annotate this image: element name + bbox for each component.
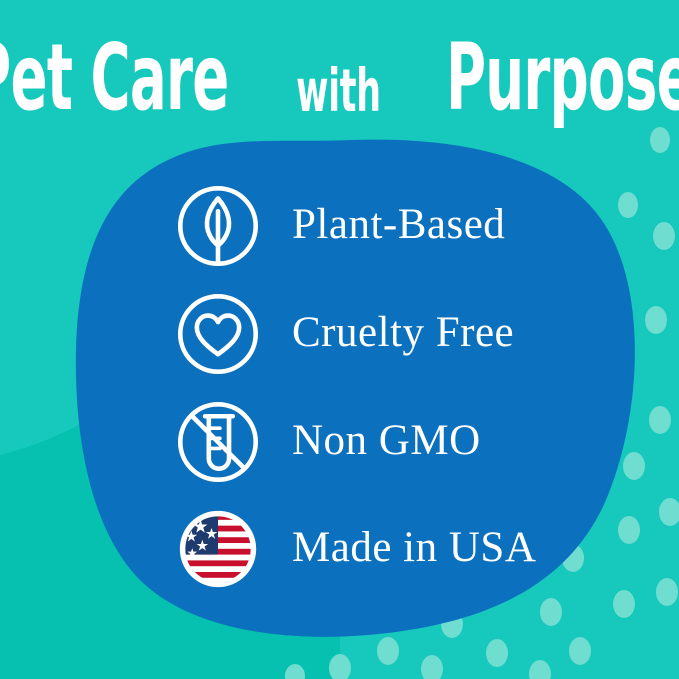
claims-list: Plant-Based Cruelty Free	[0, 0, 679, 679]
pet-care-with-purpose-graphic: Pet Care with Purpose ® Plant-Based Crue…	[0, 0, 679, 679]
claim-item-plant-based: Plant-Based	[172, 180, 505, 272]
claim-item-non-gmo: Non GMO	[172, 396, 481, 488]
usa-flag-icon	[172, 503, 264, 595]
claim-label: Plant-Based	[292, 203, 505, 250]
heart-icon	[172, 288, 264, 380]
no-test-tube-icon	[172, 396, 264, 488]
claim-item-cruelty-free: Cruelty Free	[172, 288, 514, 380]
claim-label: Cruelty Free	[292, 311, 514, 358]
leaf-icon	[172, 180, 264, 272]
claim-item-made-in-usa: Made in USA	[172, 503, 536, 595]
claim-label: Made in USA	[292, 526, 536, 573]
claim-label: Non GMO	[292, 419, 481, 466]
